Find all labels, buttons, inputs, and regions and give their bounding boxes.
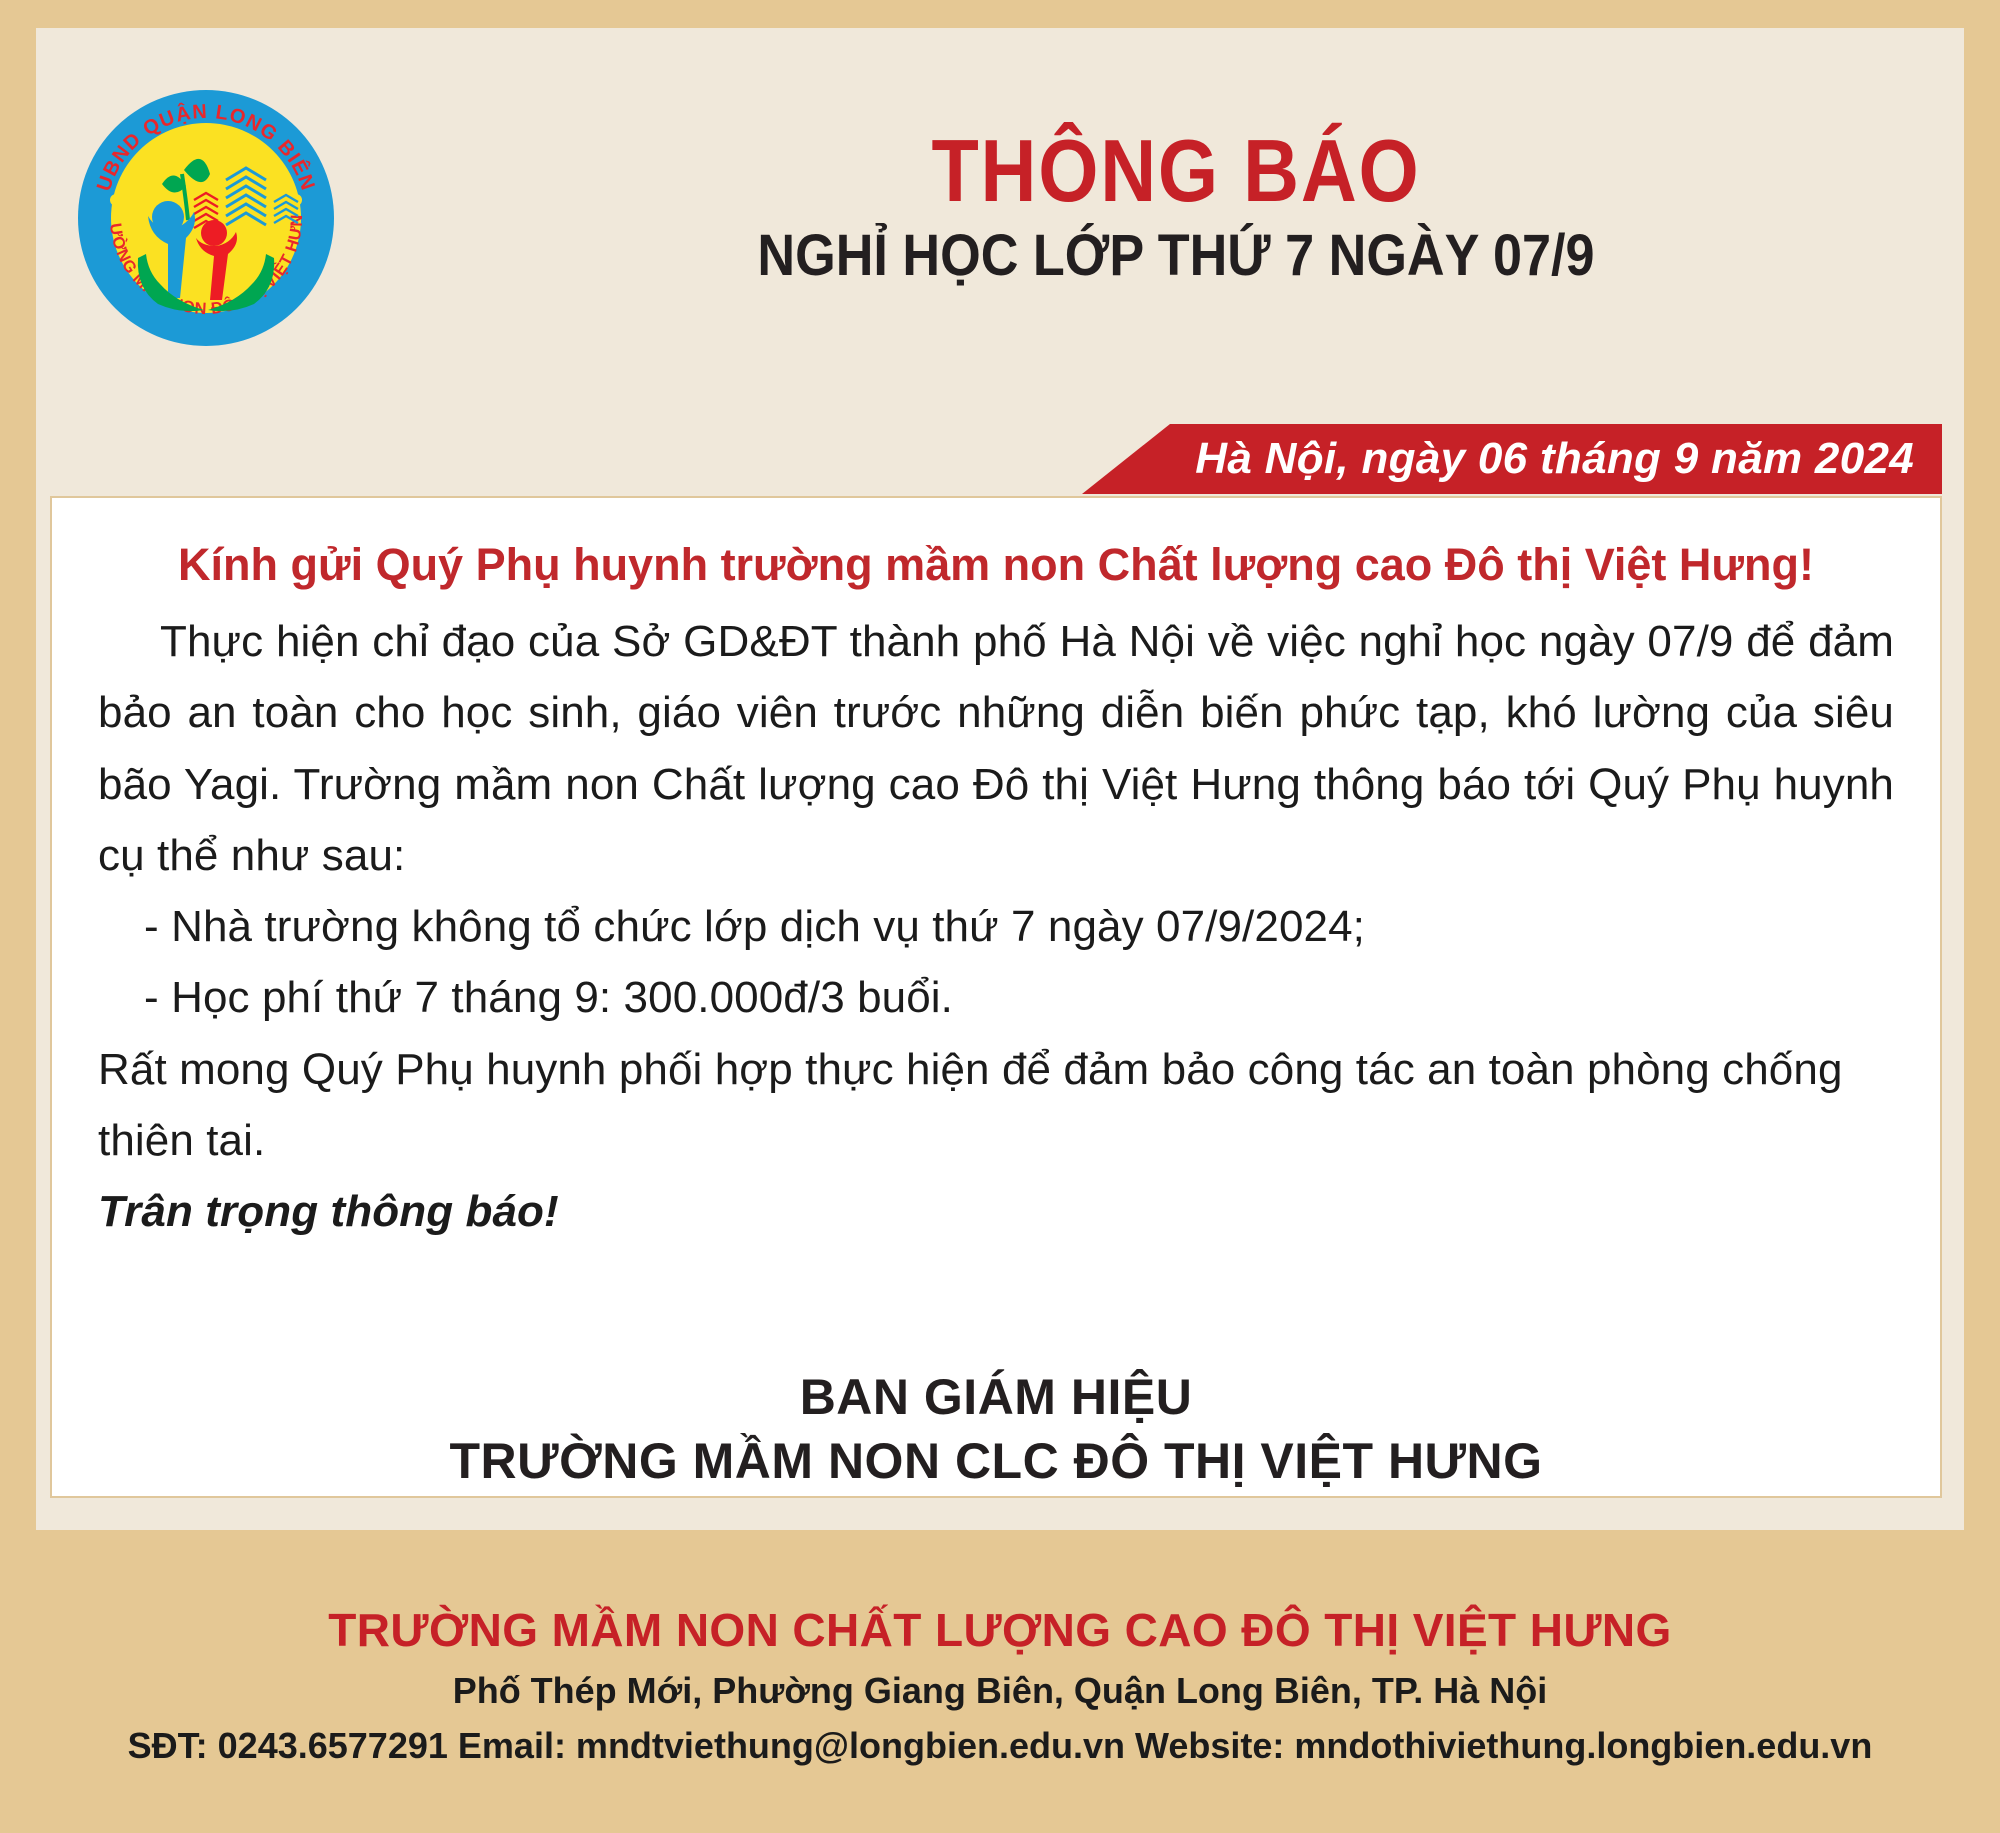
greeting-line: Kính gửi Quý Phụ huynh trường mầm non Ch… xyxy=(98,538,1894,592)
page-title: THÔNG BÁO xyxy=(525,126,1827,216)
bullet-item-1: - Nhà trường không tổ chức lớp dịch vụ t… xyxy=(98,891,1894,962)
poster-footer: TRƯỜNG MẦM NON CHẤT LƯỢNG CAO ĐÔ THỊ VIỆ… xyxy=(0,1530,2000,1833)
closing-line: Rất mong Quý Phụ huynh phối hợp thực hiệ… xyxy=(98,1034,1894,1177)
footer-school-name: TRƯỜNG MẦM NON CHẤT LƯỢNG CAO ĐÔ THỊ VIỆ… xyxy=(0,1602,2000,1658)
date-text: Hà Nội, ngày 06 tháng 9 năm 2024 xyxy=(1195,434,1914,484)
notice-body-card: Kính gửi Quý Phụ huynh trường mầm non Ch… xyxy=(50,496,1942,1498)
title-block: THÔNG BÁO NGHỈ HỌC LỚP THỨ 7 NGÀY 07/9 xyxy=(436,126,1916,290)
poster-header: UBND QUẬN LONG BIÊN TRƯỜNG MẦM NON ĐÔ TH… xyxy=(36,28,1964,428)
footer-address: Phố Thép Mới, Phường Giang Biên, Quận Lo… xyxy=(0,1664,2000,1718)
date-ribbon: Hà Nội, ngày 06 tháng 9 năm 2024 xyxy=(1082,424,1942,494)
emblem-icon: UBND QUẬN LONG BIÊN TRƯỜNG MẦM NON ĐÔ TH… xyxy=(76,88,336,348)
school-logo: UBND QUẬN LONG BIÊN TRƯỜNG MẦM NON ĐÔ TH… xyxy=(76,88,336,348)
bullet-item-2: - Học phí thứ 7 tháng 9: 300.000đ/3 buổi… xyxy=(98,962,1894,1033)
regards-line: Trân trọng thông báo! xyxy=(98,1176,1894,1247)
body-paragraph: Thực hiện chỉ đạo của Sở GD&ĐT thành phố… xyxy=(98,606,1894,891)
signature-school: TRƯỜNG MẦM NON CLC ĐÔ THỊ VIỆT HƯNG xyxy=(98,1429,1894,1493)
footer-contact: SĐT: 0243.6577291 Email: mndtviethung@lo… xyxy=(0,1720,2000,1772)
signature-authority: BAN GIÁM HIỆU xyxy=(98,1365,1894,1429)
announcement-poster: UBND QUẬN LONG BIÊN TRƯỜNG MẦM NON ĐÔ TH… xyxy=(0,0,2000,1833)
signature-block: BAN GIÁM HIỆU TRƯỜNG MẦM NON CLC ĐÔ THỊ … xyxy=(98,1365,1894,1493)
notice-body: Thực hiện chỉ đạo của Sở GD&ĐT thành phố… xyxy=(98,606,1894,1247)
page-subtitle: NGHỈ HỌC LỚP THỨ 7 NGÀY 07/9 xyxy=(510,222,1842,290)
